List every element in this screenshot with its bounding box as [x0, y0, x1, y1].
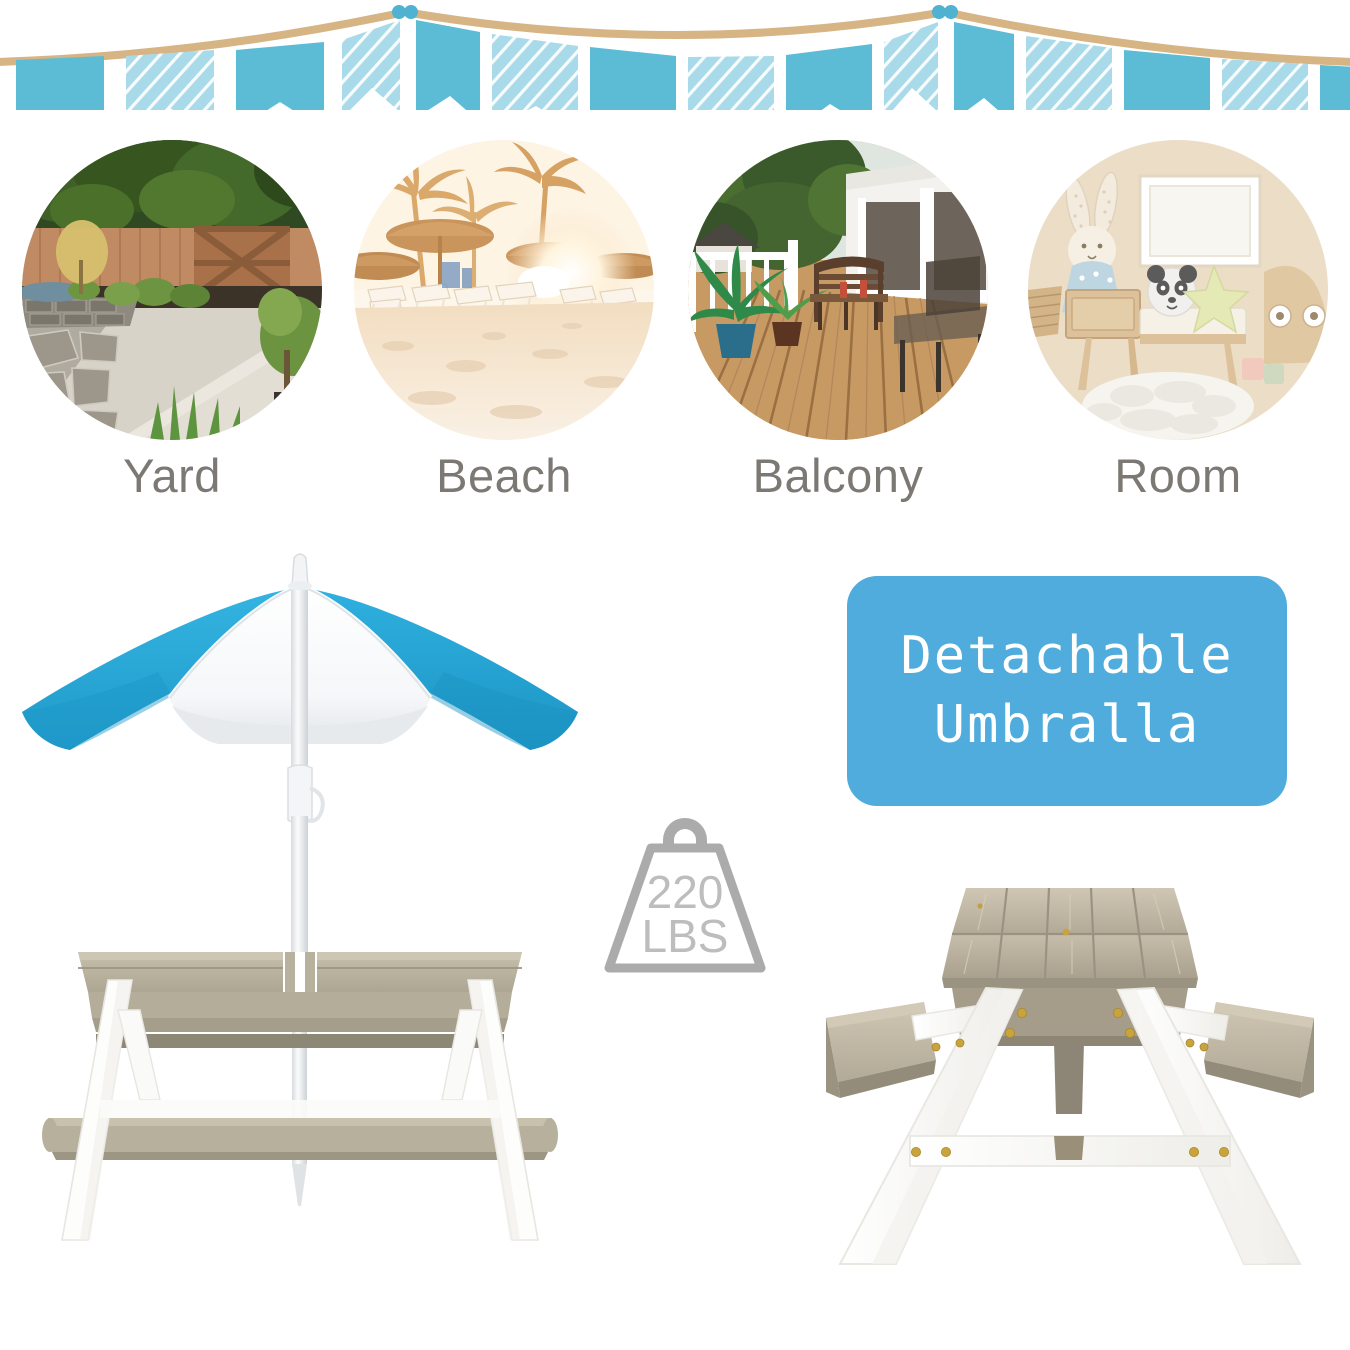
yard-scene-photo [22, 140, 322, 440]
bunting-knot-icon [392, 5, 958, 19]
scene-label-beach: Beach [349, 452, 659, 499]
bunting-flag [492, 34, 578, 110]
weight-unit-text: LBS [642, 910, 729, 962]
bunting-flag [236, 42, 324, 110]
bunting-flag [1026, 36, 1112, 110]
scene-gallery: Yard [0, 140, 1350, 520]
bunting-banner [0, 0, 1350, 110]
beach-scene-photo [354, 140, 654, 440]
scene-label-balcony: Balcony [683, 452, 993, 499]
bunting-flag [16, 56, 104, 110]
bunting-flag [786, 44, 872, 110]
bunting-flag [954, 22, 1014, 110]
weight-capacity-icon: 220 LBS [585, 800, 785, 1000]
bunting-flag [1124, 50, 1210, 110]
scene-label-yard: Yard [17, 452, 327, 499]
scene-label-room: Room [1023, 452, 1333, 499]
scene-item-yard: Yard [17, 140, 327, 499]
scene-item-balcony: Balcony [683, 140, 993, 499]
detachable-umbrella-badge: Detachable Umbralla [847, 576, 1287, 806]
badge-line-1: Detachable [900, 622, 1233, 691]
picnic-table-angled-view [800, 860, 1340, 1290]
scene-item-room: Room [1023, 140, 1333, 499]
badge-line-2: Umbralla [934, 691, 1200, 760]
room-scene-photo [1028, 140, 1328, 440]
picnic-table-with-umbrella [0, 540, 600, 1280]
bunting-flag [1222, 59, 1308, 110]
scene-item-beach: Beach [349, 140, 659, 499]
bunting-flag [126, 50, 214, 110]
bunting-flag [884, 22, 938, 110]
bunting-flag [342, 20, 400, 110]
bunting-flag [688, 56, 774, 110]
bunting-flag [416, 20, 480, 110]
bunting-flag [1320, 65, 1350, 110]
bunting-flag [590, 47, 676, 110]
balcony-scene-photo [688, 140, 988, 440]
